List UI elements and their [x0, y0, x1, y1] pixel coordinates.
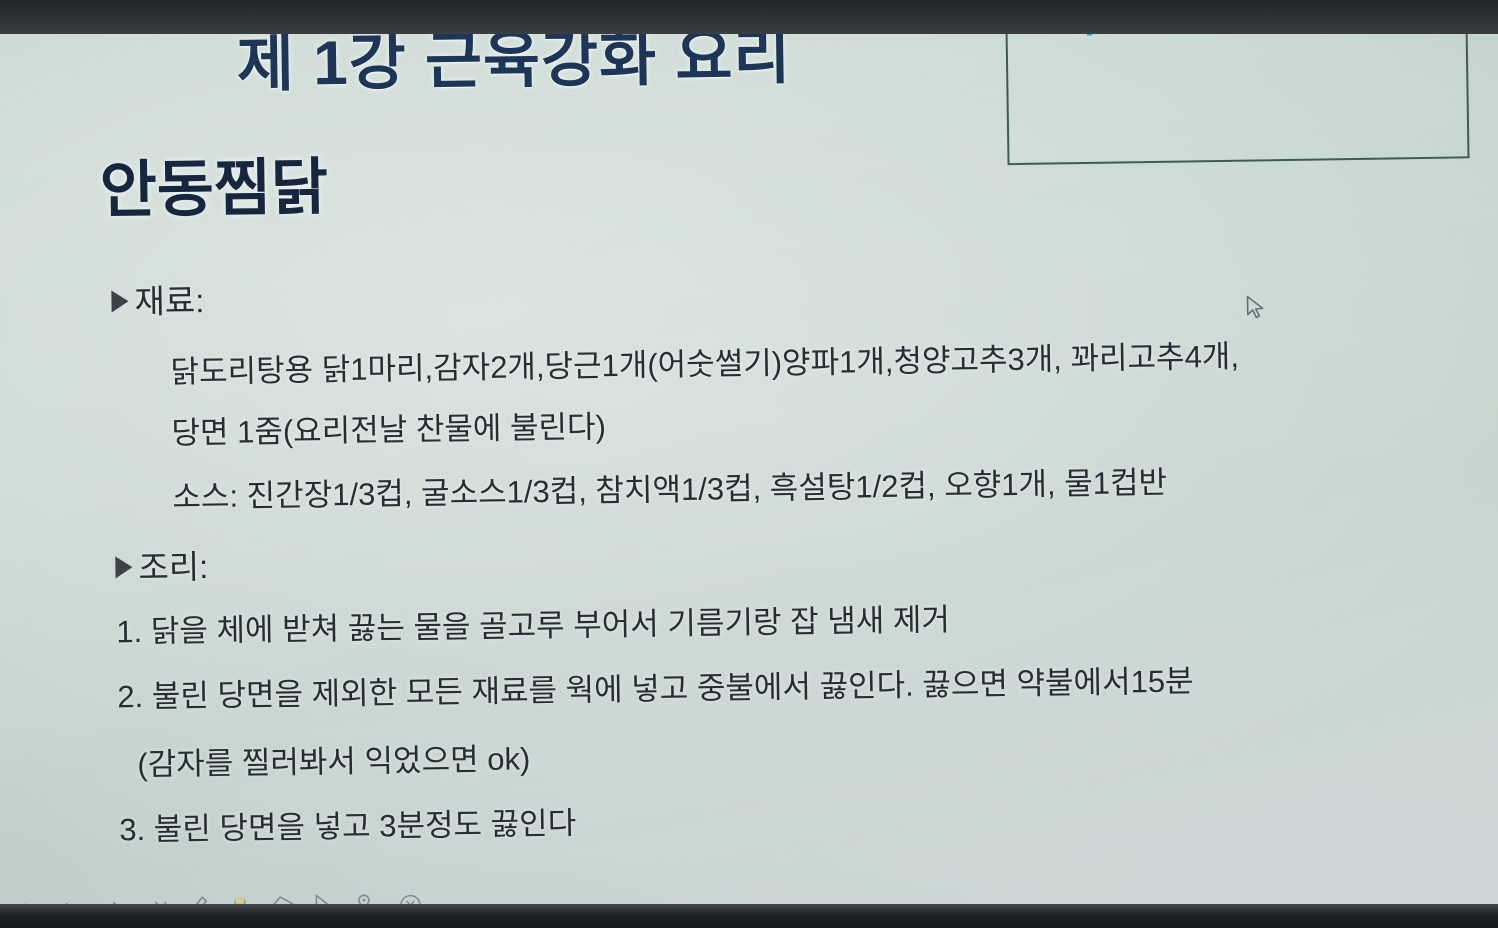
cooking-heading-label: 조리:: [138, 548, 208, 586]
mouse-cursor-icon: [1246, 295, 1268, 321]
ingredients-heading-label: 재료:: [134, 282, 204, 320]
cooking-step: 1. 닭을 체에 받쳐 끓는 물을 골고루 부어서 기름기랑 잡 냄새 제거: [116, 601, 950, 652]
slide-content: 제 1강 근육강화 요리 베스트오브베스트 안동찜닭 재료: 닭도리탕용 닭1마…: [0, 0, 1498, 928]
ingredient-line: 닭도리탕용 닭1마리,감자2개,당근1개(어숫썰기)양파1개,청양고추3개, 꽈…: [170, 338, 1239, 393]
room-top-band: [0, 0, 1498, 34]
triangle-bullet-icon: [115, 556, 132, 578]
cooking-step: 2. 불린 당면을 제외한 모든 재료를 웍에 넣고 중불에서 끓인다. 끓으면…: [117, 662, 1194, 717]
cooking-step-note: (감자를 찔러봐서 익었으면 ok): [137, 740, 530, 785]
ingredient-line: 소스: 진간장1/3컵, 굴소스1/3컵, 참치액1/3컵, 흑설탕1/2컵, …: [172, 464, 1167, 518]
triangle-bullet-icon: [111, 290, 128, 312]
room-bottom-band: [0, 904, 1498, 928]
ingredient-line: 당면 1줌(요리전날 찬물에 불린다): [171, 408, 606, 453]
cooking-heading: 조리:: [115, 546, 208, 589]
dish-title: 안동찜닭: [99, 136, 328, 229]
projection-screen: 제 1강 근육강화 요리 베스트오브베스트 안동찜닭 재료: 닭도리탕용 닭1마…: [0, 0, 1498, 928]
ingredients-heading: 재료:: [111, 280, 204, 323]
presentation-photo: 제 1강 근육강화 요리 베스트오브베스트 안동찜닭 재료: 닭도리탕용 닭1마…: [0, 0, 1498, 928]
cooking-step: 3. 불린 당면을 넣고 3분정도 끓인다: [119, 805, 576, 851]
